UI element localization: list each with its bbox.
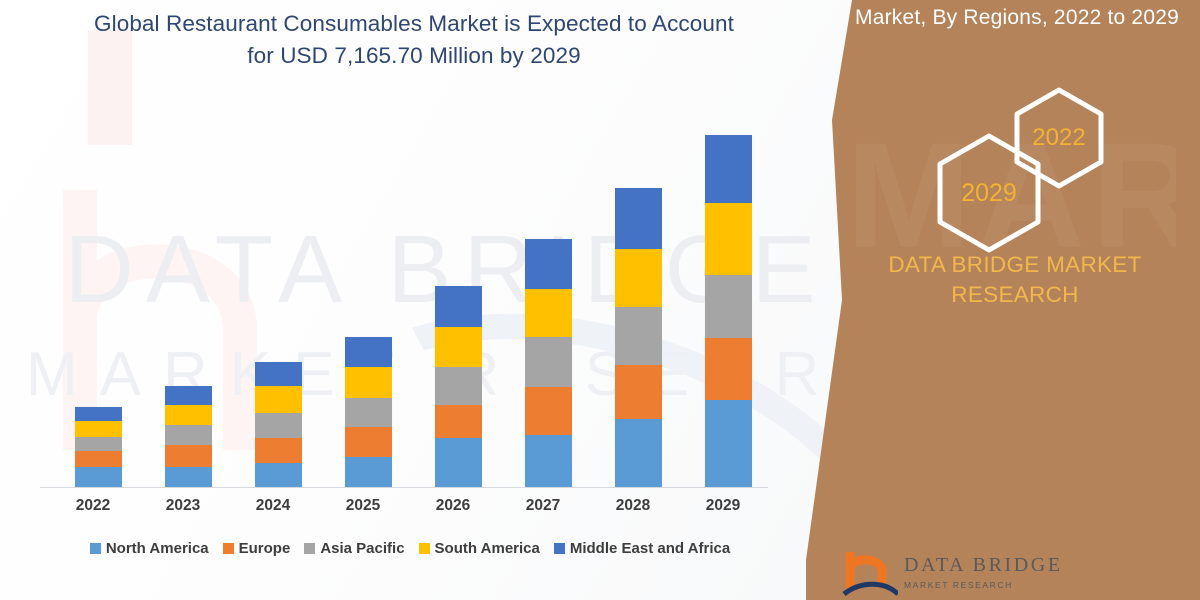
x-axis-label-2027: 2027 — [498, 497, 588, 515]
bar-segment[interactable] — [705, 135, 752, 203]
x-axis-label-2024: 2024 — [228, 497, 318, 515]
bar-segment[interactable] — [345, 398, 392, 427]
legend-item[interactable]: Europe — [223, 540, 291, 557]
legend-item[interactable]: South America — [419, 540, 540, 557]
legend-swatch-icon — [90, 543, 101, 554]
bar-group-2025 — [318, 120, 408, 487]
bar-group-2029 — [678, 120, 768, 487]
bar-group-2024 — [228, 120, 318, 487]
bar-segment[interactable] — [255, 413, 302, 438]
bar-segment[interactable] — [165, 445, 212, 467]
bar-segment[interactable] — [165, 386, 212, 405]
brand-panel: MARKET RESEARCH Market, By Regions, 2022… — [806, 0, 1200, 600]
x-axis-label-2029: 2029 — [678, 497, 768, 515]
data-bridge-logo: DATA BRIDGE MARKET RESEARCH — [842, 548, 1072, 600]
x-axis-label-2026: 2026 — [408, 497, 498, 515]
bar-group-2023 — [138, 120, 228, 487]
bar-group-2027 — [498, 120, 588, 487]
bar-segment[interactable] — [255, 386, 302, 413]
x-axis-label-2023: 2023 — [138, 497, 228, 515]
bar-segment[interactable] — [435, 286, 482, 327]
hexagon-2029-label: 2029 — [961, 179, 1017, 208]
plot-area — [48, 120, 768, 487]
bar-group-2022 — [48, 120, 138, 487]
hexagon-2022-label: 2022 — [1032, 124, 1085, 152]
bar-segment[interactable] — [75, 407, 122, 421]
bar-segment[interactable] — [525, 239, 572, 289]
bar-segment[interactable] — [705, 338, 752, 400]
bar-segment[interactable] — [435, 438, 482, 487]
stacked-bar[interactable] — [435, 286, 482, 487]
legend-swatch-icon — [304, 543, 315, 554]
legend-label: Europe — [239, 540, 291, 557]
bar-segment[interactable] — [615, 419, 662, 487]
bar-segment[interactable] — [75, 437, 122, 451]
legend-item[interactable]: Middle East and Africa — [554, 540, 730, 557]
bar-segment[interactable] — [75, 467, 122, 487]
bar-segment[interactable] — [345, 427, 392, 457]
legend-item[interactable]: Asia Pacific — [304, 540, 404, 557]
bar-segment[interactable] — [75, 421, 122, 437]
legend-label: Middle East and Africa — [570, 540, 730, 557]
brand-name-line-2: RESEARCH — [830, 280, 1200, 310]
bar-segment[interactable] — [165, 425, 212, 445]
bar-segment[interactable] — [615, 307, 662, 365]
bar-segment[interactable] — [255, 463, 302, 487]
x-axis-line — [40, 487, 768, 488]
hexagon-2022: 2022 — [1012, 86, 1106, 190]
legend-swatch-icon — [554, 543, 565, 554]
stacked-bar[interactable] — [615, 188, 662, 487]
bar-segment[interactable] — [525, 289, 572, 337]
chart-legend: North AmericaEuropeAsia PacificSouth Ame… — [40, 540, 780, 557]
bar-segment[interactable] — [345, 367, 392, 398]
stacked-bar[interactable] — [75, 407, 122, 487]
bar-segment[interactable] — [615, 249, 662, 307]
bar-segment[interactable] — [345, 337, 392, 367]
bar-segment[interactable] — [705, 400, 752, 487]
bar-segment[interactable] — [525, 387, 572, 435]
brand-name-line-1: DATA BRIDGE MARKET — [830, 250, 1200, 280]
bar-segment[interactable] — [705, 275, 752, 338]
bar-segment[interactable] — [435, 327, 482, 367]
x-axis-label-2025: 2025 — [318, 497, 408, 515]
bar-segment[interactable] — [525, 337, 572, 387]
bar-group-2028 — [588, 120, 678, 487]
logo-wordmark: DATA BRIDGE — [904, 554, 1063, 577]
bridge-logo-icon — [842, 548, 898, 598]
bar-segment[interactable] — [435, 405, 482, 438]
stacked-bar[interactable] — [525, 239, 572, 487]
legend-label: Asia Pacific — [320, 540, 404, 557]
bar-segment[interactable] — [345, 457, 392, 487]
legend-swatch-icon — [419, 543, 430, 554]
bar-segment[interactable] — [705, 203, 752, 275]
bar-segment[interactable] — [255, 362, 302, 386]
bar-segment[interactable] — [525, 435, 572, 487]
stacked-bar[interactable] — [165, 386, 212, 487]
bar-segment[interactable] — [615, 365, 662, 419]
logo-subwordmark: MARKET RESEARCH — [904, 580, 1013, 590]
legend-label: North America — [106, 540, 209, 557]
x-axis-label-2022: 2022 — [48, 497, 138, 515]
bar-segment[interactable] — [165, 467, 212, 487]
bar-segment[interactable] — [435, 367, 482, 405]
legend-swatch-icon — [223, 543, 234, 554]
bar-segment[interactable] — [255, 438, 302, 463]
legend-item[interactable]: North America — [90, 540, 209, 557]
bar-segment[interactable] — [165, 405, 212, 425]
brand-name: DATA BRIDGE MARKET RESEARCH — [806, 250, 1200, 311]
bar-segment[interactable] — [75, 451, 122, 467]
bar-group-2026 — [408, 120, 498, 487]
bar-segment[interactable] — [615, 188, 662, 249]
legend-label: South America — [435, 540, 540, 557]
x-axis-label-2028: 2028 — [588, 497, 678, 515]
stacked-bar[interactable] — [705, 135, 752, 487]
panel-header: Market, By Regions, 2022 to 2029 — [806, 6, 1200, 30]
infographic-canvas: DATA BRIDGE MARKET RESEARCH Global Resta… — [0, 0, 1200, 600]
stacked-bar[interactable] — [255, 362, 302, 487]
stacked-bar[interactable] — [345, 337, 392, 487]
stacked-bar-chart: 20222023202420252026202720282029 North A… — [0, 0, 806, 600]
